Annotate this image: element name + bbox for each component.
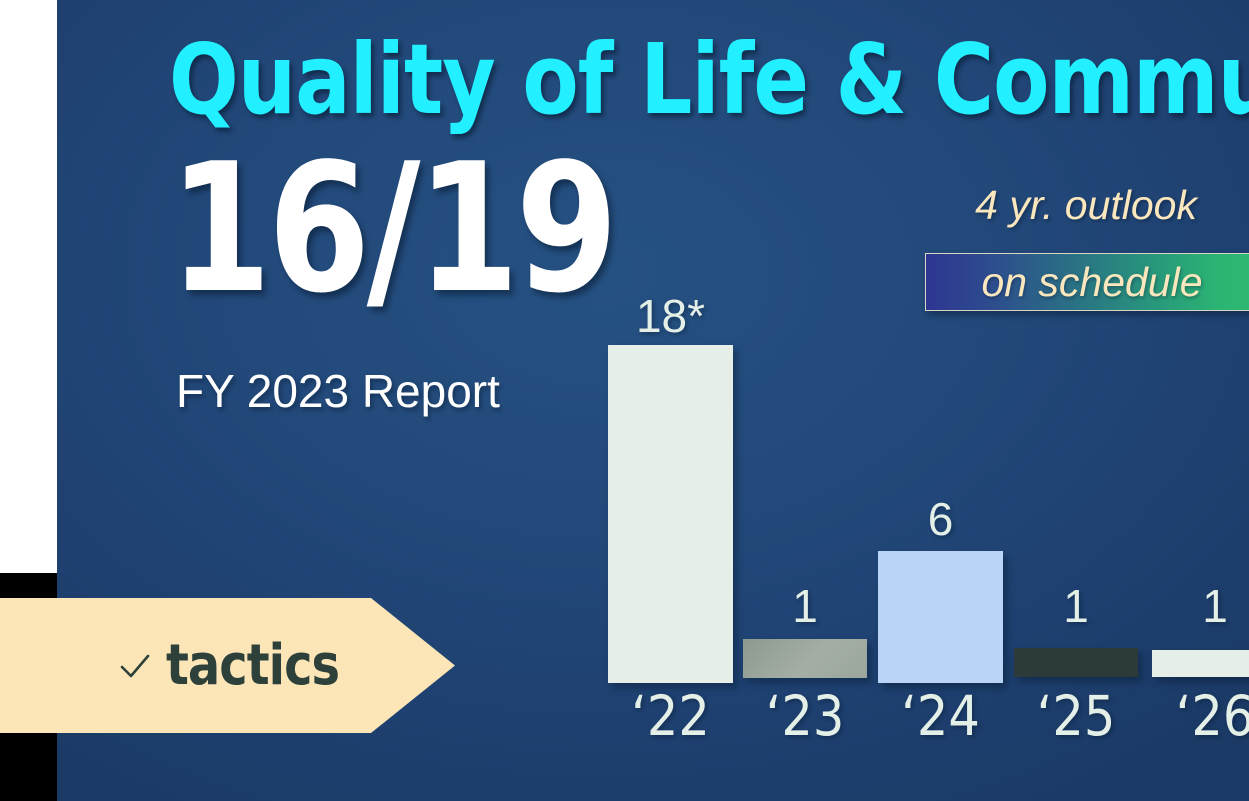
check-icon [118,649,152,683]
bar-tick-22: ‘22 [608,684,733,748]
tactics-label: tactics [166,638,339,694]
bar-value-26: 1 [1152,579,1249,633]
outlook-label: 4 yr. outlook [975,182,1197,229]
bar-tick-25: ‘25 [1014,684,1138,748]
tactics-arrow[interactable]: tactics [0,598,455,733]
bar-26 [1152,650,1249,677]
bar-22 [608,345,733,683]
left-edge-black-strip-lower [0,733,57,801]
bar-value-25: 1 [1014,579,1138,633]
bar-24 [878,551,1003,683]
score-value: 16/19 [169,140,614,318]
left-edge-white-strip [0,0,57,573]
left-edge-black-strip-upper [0,573,57,598]
slide-root: Quality of Life & Community 16/19 FY 202… [0,0,1249,801]
bar-value-24: 6 [878,492,1003,546]
bar-tick-24: ‘24 [878,684,1003,748]
bar-chart: 18* ‘22 1 ‘23 6 ‘24 1 ‘25 1 ‘26 [597,280,1249,750]
bar-value-22: 18* [608,289,733,343]
page-title: Quality of Life & Community [169,31,1194,130]
score-caption: FY 2023 Report [176,364,500,418]
bar-25 [1014,648,1138,677]
tactics-arrow-content: tactics [118,638,348,694]
bar-23 [743,639,867,678]
bar-tick-23: ‘23 [743,684,867,748]
bar-tick-26: ‘26 [1152,684,1249,748]
bar-value-23: 1 [743,579,867,633]
